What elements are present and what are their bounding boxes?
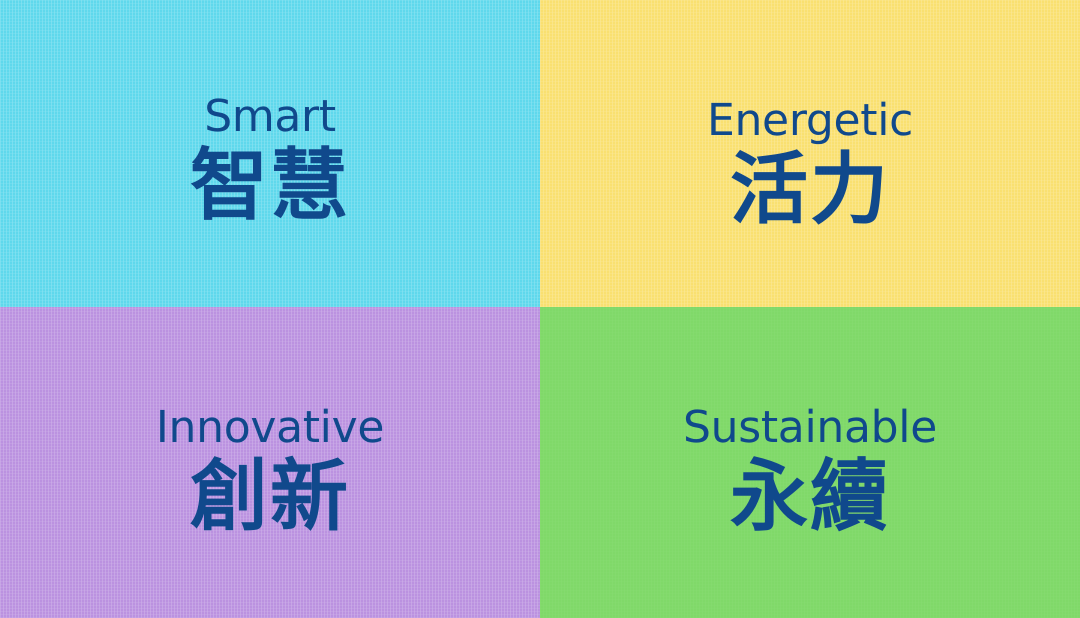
quadrant-sustainable[interactable]: Sustainable 永續: [540, 307, 1080, 618]
quadrant-innovative[interactable]: Innovative 創新: [0, 307, 540, 618]
label-stack-energetic: Energetic 活力: [707, 99, 913, 229]
quadrant-label-zh-innovative: 創新: [190, 458, 350, 536]
quadrant-label-zh-sustainable: 永續: [730, 458, 890, 536]
quadrant-smart[interactable]: Smart 智慧: [0, 0, 540, 307]
quadrant-label-zh-energetic: 活力: [730, 151, 890, 229]
quadrant-label-en-innovative: Innovative: [156, 406, 384, 450]
label-stack-innovative: Innovative 創新: [156, 406, 384, 536]
quadrant-label-en-energetic: Energetic: [707, 99, 913, 143]
quadrant-label-en-smart: Smart: [204, 95, 336, 139]
label-stack-smart: Smart 智慧: [190, 95, 350, 225]
quadrant-label-en-sustainable: Sustainable: [683, 406, 937, 450]
label-stack-sustainable: Sustainable 永續: [683, 406, 937, 536]
quadrant-energetic[interactable]: Energetic 活力: [540, 0, 1080, 307]
brand-values-poster: Smart 智慧 Energetic 活力 Innovative 創新 Sust…: [0, 0, 1080, 618]
quadrant-label-zh-smart: 智慧: [190, 147, 350, 225]
